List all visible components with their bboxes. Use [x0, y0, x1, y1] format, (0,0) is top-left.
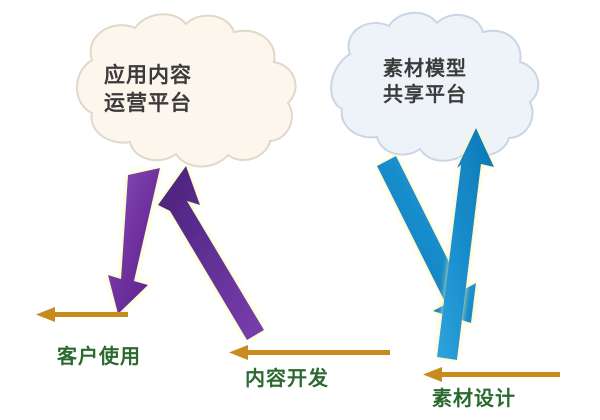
arrow-purple-up [158, 166, 264, 340]
arrow-gold-material-design [423, 367, 560, 382]
cloud-right-shape [331, 13, 538, 161]
diagram-canvas: 应用内容 运营平台 素材模型 共享平台 客户使用 内容开发 素材设计 [0, 0, 600, 420]
arrow-purple-down [108, 168, 160, 314]
arrow-gold-content-development [229, 345, 390, 360]
cloud-left-shape [77, 14, 296, 166]
diagram-svg [0, 0, 600, 420]
arrow-gold-customer-use [36, 307, 128, 322]
arrow-blue-up [437, 128, 494, 360]
